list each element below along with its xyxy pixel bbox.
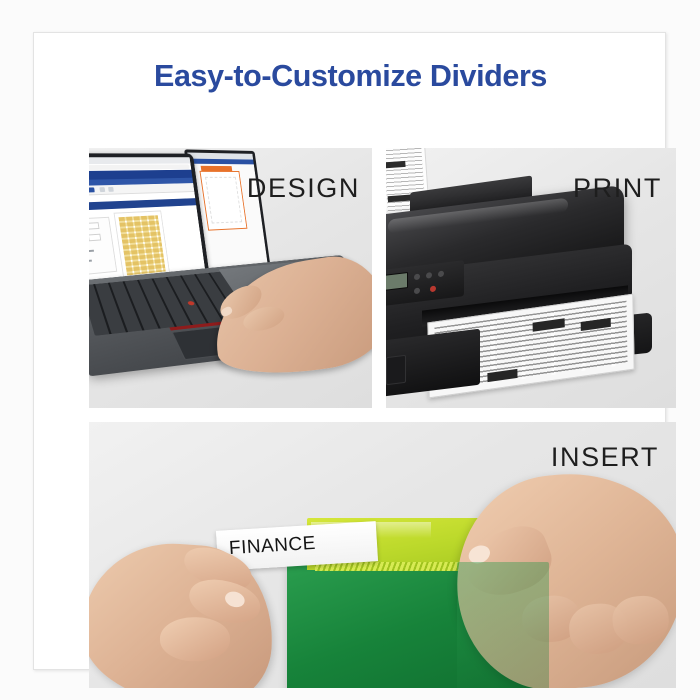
printer-button <box>438 271 444 278</box>
right-hand <box>448 464 676 688</box>
toolbar-button <box>99 187 105 192</box>
template-label-grid <box>119 215 166 275</box>
knuckle <box>611 594 671 647</box>
form-label <box>89 260 92 264</box>
secondary-document-inner <box>205 177 242 224</box>
printer-button <box>426 272 432 279</box>
browser-tab-bar <box>89 157 190 164</box>
product-info-card: Easy-to-Customize Dividers <box>33 32 666 670</box>
form-input <box>89 222 99 229</box>
form-label <box>89 250 94 254</box>
printer-memory-card-slot <box>386 355 406 385</box>
toolbar-button <box>108 187 114 192</box>
insert-label-text: FINANCE <box>228 533 316 560</box>
secondary-app-header <box>188 159 254 165</box>
panel-label-insert: INSERT <box>551 444 659 471</box>
finger <box>160 617 230 661</box>
printer-power-button <box>430 286 436 293</box>
panel-label-print: PRINT <box>573 175 662 202</box>
page-title: Easy-to-Customize Dividers <box>34 59 667 94</box>
panel-insert: FINANCE INSERT <box>89 422 676 688</box>
panel-design: DESIGN <box>89 148 372 408</box>
toolbar-primary-button <box>89 187 95 192</box>
printer-button <box>414 274 420 281</box>
secondary-document-preview <box>199 171 247 231</box>
panel-print: PRINT <box>386 148 676 408</box>
app-settings-panel <box>89 217 117 278</box>
printer-lcd-display <box>386 272 408 292</box>
trackpoint-nub <box>187 301 195 306</box>
panel-label-design: DESIGN <box>247 175 360 202</box>
form-input <box>89 234 101 242</box>
template-preview <box>114 210 171 280</box>
printer-button <box>414 288 420 295</box>
screenshot-stage: Easy-to-Customize Dividers <box>0 0 700 700</box>
